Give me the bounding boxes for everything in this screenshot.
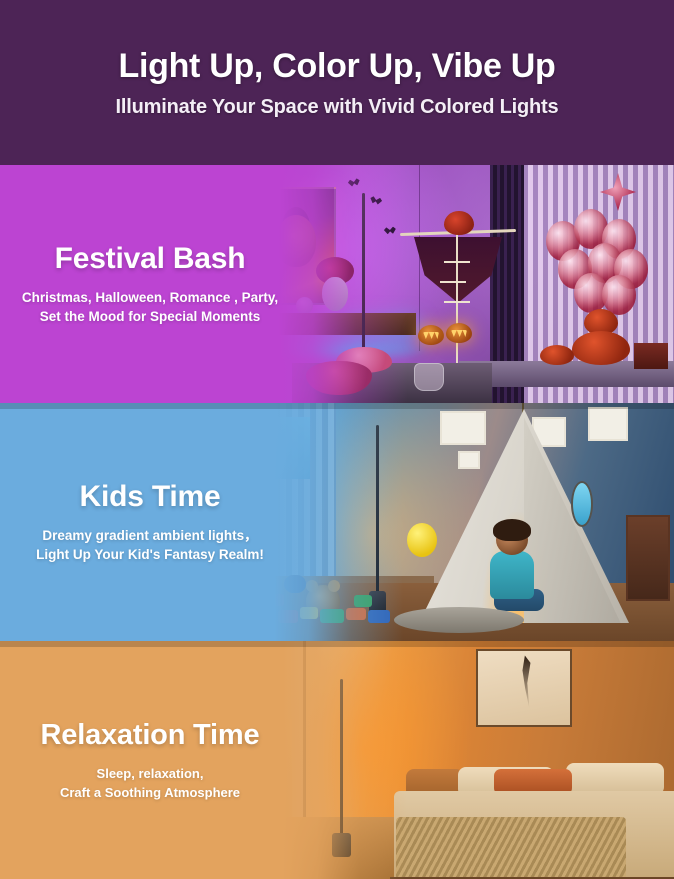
product-feature-poster: Light Up, Color Up, Vibe Up Illuminate Y…	[0, 0, 674, 879]
corner-floor-lamp-rod	[340, 679, 343, 837]
panel-subline-1-festival: Christmas, Halloween, Romance , Party,	[22, 288, 278, 307]
balloon-cluster	[544, 195, 656, 313]
feature-panel-relax: Relaxation Time Sleep, relaxation, Craft…	[0, 641, 674, 879]
disco-ball-ornament	[296, 297, 313, 314]
feature-panel-festival: Festival Bash Christmas, Halloween, Roma…	[0, 165, 674, 403]
panel-subline-1-kids: Dreamy gradient ambient lights，	[42, 526, 257, 545]
panel-heading-relax: Relaxation Time	[41, 719, 260, 752]
corner-floor-lamp-rod	[376, 425, 379, 593]
floating-wall-shelf	[266, 313, 416, 335]
scene-photo-relax	[244, 641, 674, 879]
glass-candy-jar	[414, 363, 444, 391]
panel-heading-kids: Kids Time	[79, 480, 220, 514]
child-torso	[490, 551, 534, 599]
jack-o-lantern	[446, 323, 472, 343]
poster-subtitle: Illuminate Your Space with Vivid Colored…	[116, 96, 559, 119]
door-glass	[258, 719, 292, 817]
scarecrow-pumpkin-head	[444, 211, 474, 235]
flower-vase	[322, 277, 348, 311]
corner-floor-lamp-base	[332, 833, 351, 857]
scene-photo-festival	[244, 165, 674, 403]
kids-room-scene	[244, 403, 674, 641]
panel-subline-2-relax: Craft a Soothing Atmosphere	[60, 783, 240, 802]
scarecrow-spine	[456, 233, 458, 363]
panel-subline-2-kids: Light Up Your Kid's Fantasy Realm!	[36, 545, 264, 564]
gift-box	[634, 343, 668, 369]
tent-window	[571, 481, 593, 527]
corner-floor-lamp-rod	[362, 193, 365, 353]
toy-block-pile	[254, 571, 404, 623]
scarecrow-rib	[444, 301, 470, 303]
feature-panel-kids: Kids Time Dreamy gradient ambient lights…	[0, 403, 674, 641]
poster-header: Light Up, Color Up, Vibe Up Illuminate Y…	[0, 0, 674, 165]
scarecrow-rib	[440, 281, 466, 283]
panel-subline-1-relax: Sleep, relaxation,	[97, 764, 204, 783]
child-hair	[493, 519, 531, 541]
floor-rug	[394, 607, 524, 633]
knitted-throw-blanket	[396, 817, 626, 879]
framed-wall-art	[476, 649, 572, 727]
scarecrow-rib	[444, 261, 470, 263]
window-pane	[252, 417, 310, 479]
poster-title: Light Up, Color Up, Vibe Up	[118, 47, 555, 86]
panel-heading-festival: Festival Bash	[55, 242, 246, 276]
bookshelf	[626, 515, 670, 601]
halloween-room-scene	[244, 165, 674, 403]
bedroom-scene	[244, 641, 674, 879]
jack-o-lantern	[418, 325, 444, 345]
scene-photo-kids	[244, 403, 674, 641]
panel-subline-2-festival: Set the Mood for Special Moments	[40, 307, 261, 326]
